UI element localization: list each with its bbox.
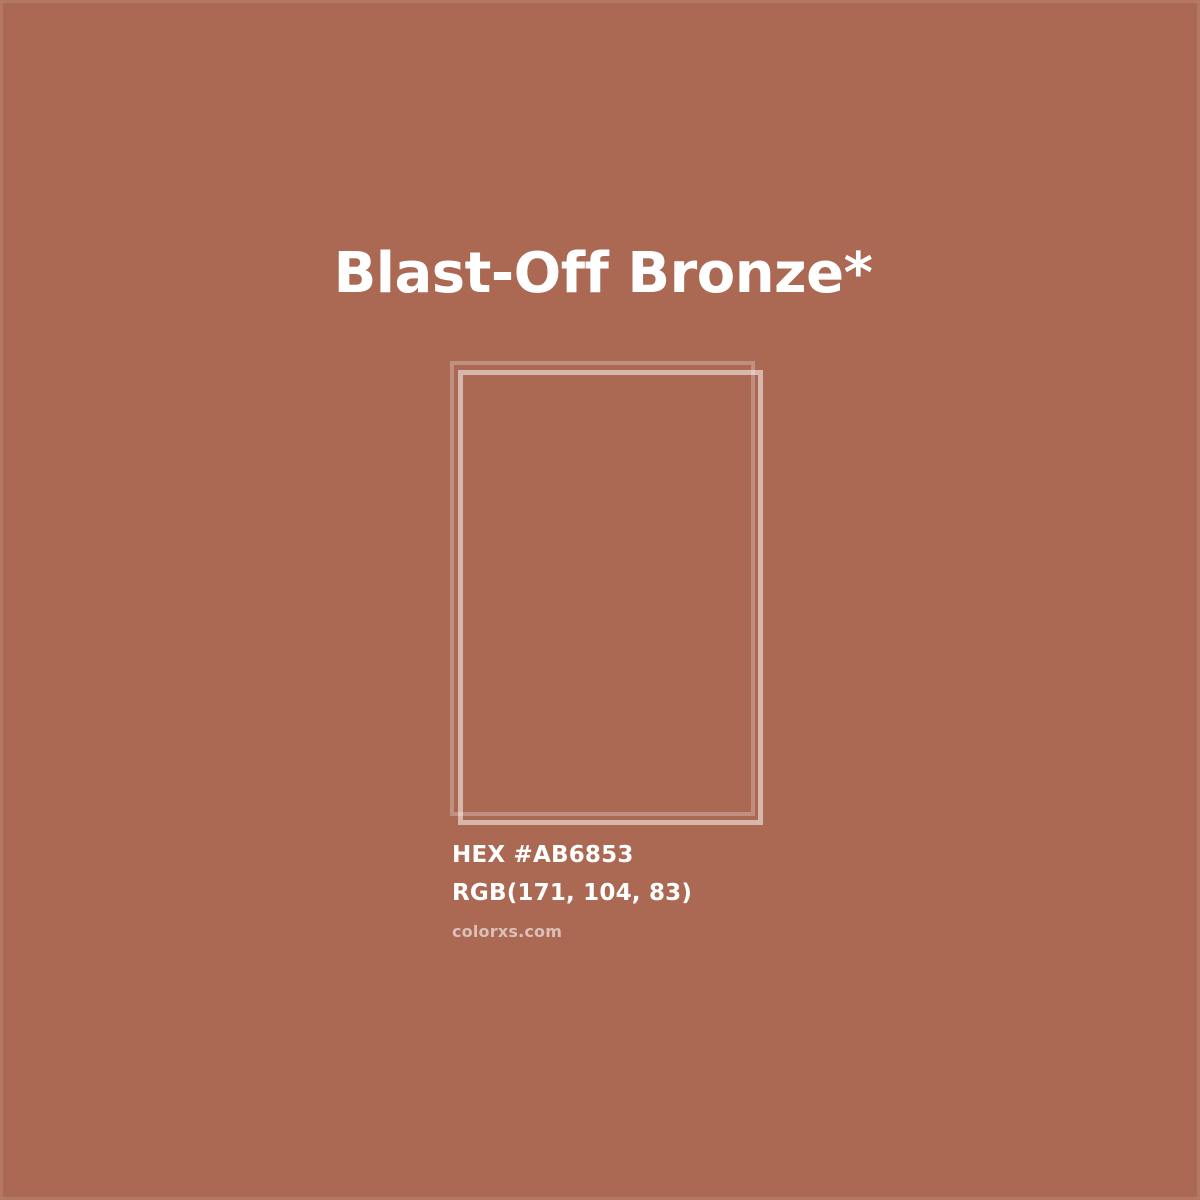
color-info-block: HEX #AB6853 RGB(171, 104, 83) colorxs.co… bbox=[452, 837, 972, 942]
site-credit-label: colorxs.com bbox=[452, 922, 972, 942]
color-swatch-page: Blast-Off Bronze* HEX #AB6853 RGB(171, 1… bbox=[0, 0, 1200, 1200]
page-title: Blast-Off Bronze* bbox=[3, 241, 1200, 307]
hex-value-label: HEX #AB6853 bbox=[452, 837, 972, 874]
swatch-outline-front bbox=[458, 370, 763, 825]
rgb-value-label: RGB(171, 104, 83) bbox=[452, 875, 972, 912]
